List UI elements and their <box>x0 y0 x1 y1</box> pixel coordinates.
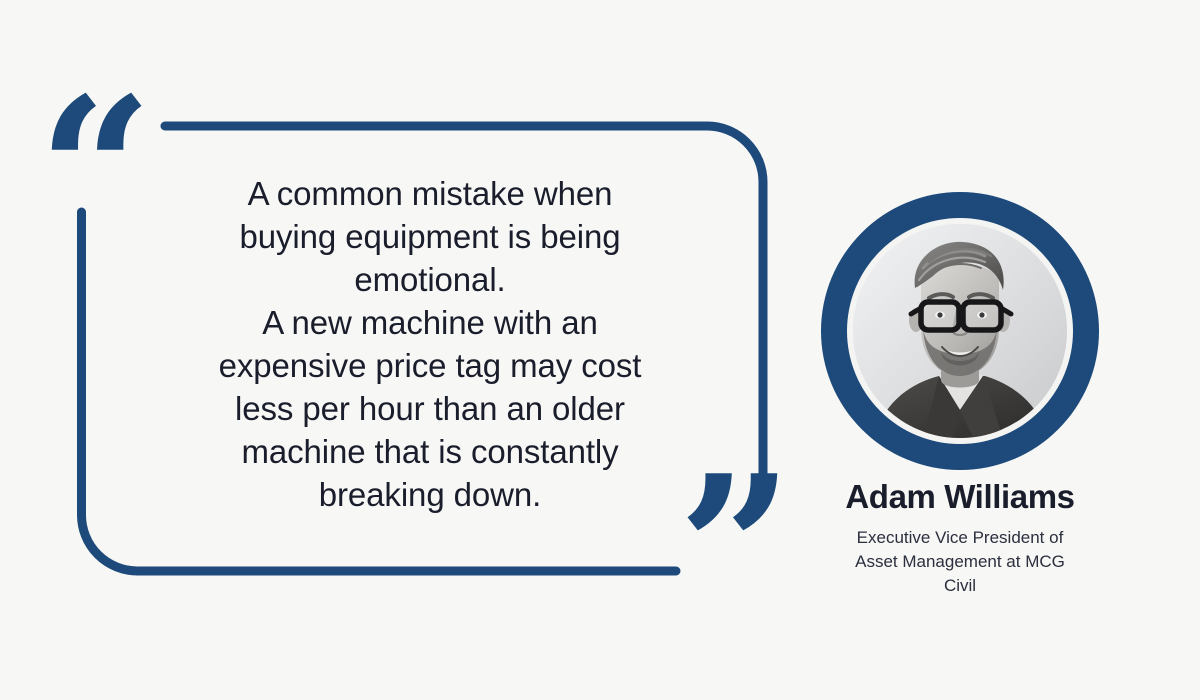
quote-line: expensive price tag may cost <box>150 344 710 387</box>
attribution: Adam Williams Executive Vice President o… <box>820 478 1100 598</box>
quote-line: A common mistake when <box>150 172 710 215</box>
opening-quote-mark: “ <box>38 72 153 272</box>
author-title-line: Executive Vice President of <box>820 526 1100 550</box>
quote-text: A common mistake when buying equipment i… <box>150 172 710 516</box>
avatar-photo <box>853 224 1067 438</box>
quote-line: breaking down. <box>150 473 710 516</box>
author-title: Executive Vice President of Asset Manage… <box>820 526 1100 598</box>
closing-quote-mark: ” <box>678 450 793 650</box>
headshot-illustration <box>853 224 1067 438</box>
author-title-line: Civil <box>820 574 1100 598</box>
quote-line: less per hour than an older <box>150 387 710 430</box>
quote-card: “ A common mistake when buying equipment… <box>0 0 1200 700</box>
quote-line: A new machine with an <box>150 301 710 344</box>
author-name: Adam Williams <box>820 478 1100 516</box>
quote-line: emotional. <box>150 258 710 301</box>
quote-line: buying equipment is being <box>150 215 710 258</box>
avatar <box>821 192 1099 470</box>
quote-line: machine that is constantly <box>150 430 710 473</box>
author-title-line: Asset Management at MCG <box>820 550 1100 574</box>
